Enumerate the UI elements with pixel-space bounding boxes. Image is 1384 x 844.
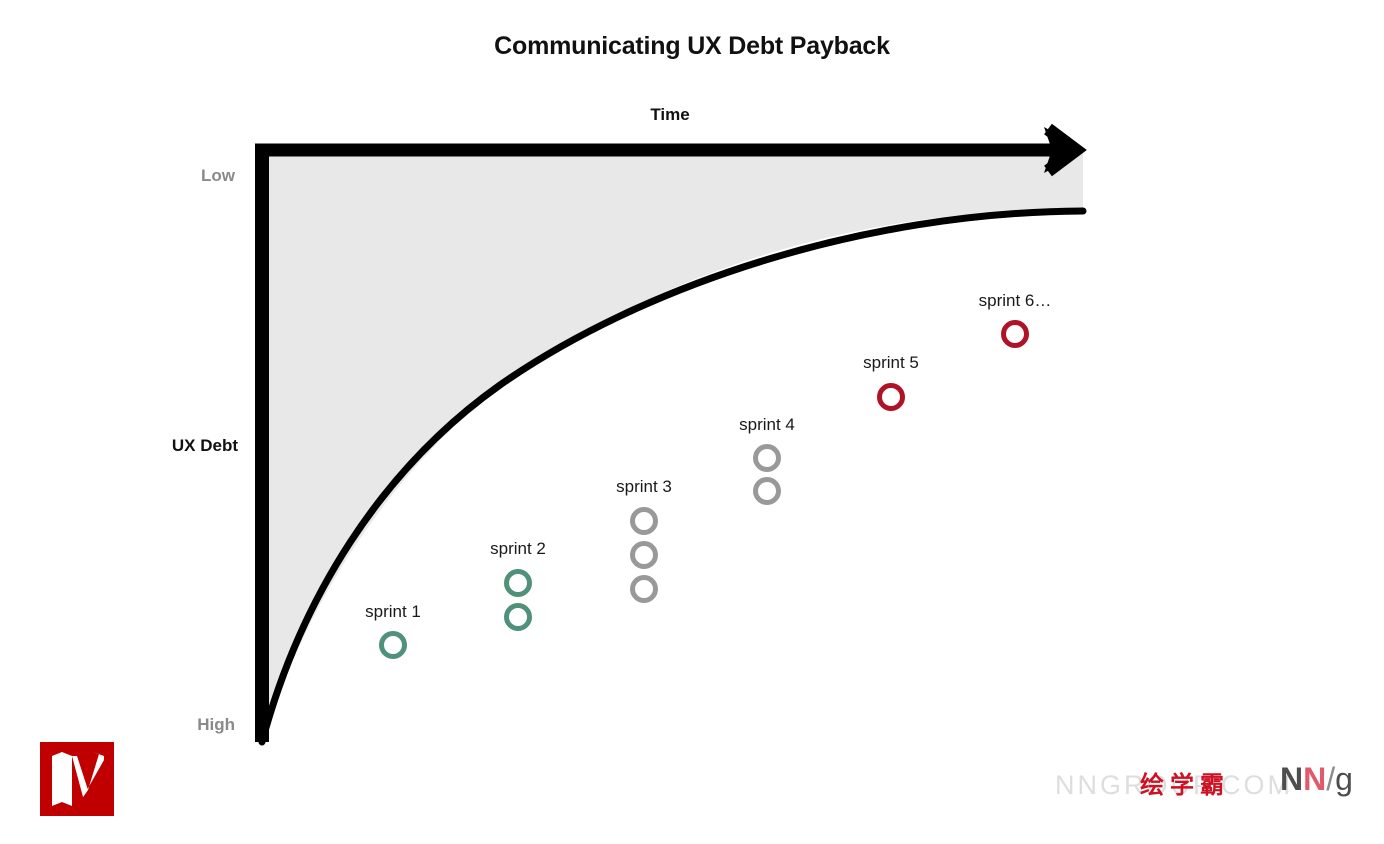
sprint-marker-3-2 [630, 541, 658, 569]
corner-brand-logo [40, 742, 114, 816]
sprint-marker-3-3 [630, 575, 658, 603]
sprint-marker-5-1 [877, 383, 905, 411]
sprint-label-5: sprint 5 [821, 353, 961, 373]
nng-logo-n1: N [1280, 761, 1303, 797]
sprint-marker-3-1 [630, 507, 658, 535]
w-mark-icon [40, 742, 114, 816]
sprint-label-1: sprint 1 [323, 602, 463, 622]
nng-logo-slash: / [1326, 761, 1335, 797]
watermark-overlay-cn: 绘学霸 [1140, 765, 1230, 800]
sprint-marker-4-2 [753, 477, 781, 505]
sprint-marker-1-1 [379, 631, 407, 659]
plot-area [0, 0, 1384, 844]
nng-logo: NN/g [1280, 763, 1353, 795]
sprint-label-2: sprint 2 [448, 539, 588, 559]
sprint-label-4: sprint 4 [697, 415, 837, 435]
sprint-marker-2-2 [504, 603, 532, 631]
nng-logo-n2: N [1303, 761, 1326, 797]
sprint-marker-2-1 [504, 569, 532, 597]
sprint-marker-6-1 [1001, 320, 1029, 348]
nng-logo-g: g [1335, 761, 1353, 797]
sprint-label-6: sprint 6… [945, 291, 1085, 311]
sprint-marker-4-1 [753, 444, 781, 472]
chart-canvas: Communicating UX Debt Payback Time UX De… [0, 0, 1384, 844]
sprint-label-3: sprint 3 [574, 477, 714, 497]
